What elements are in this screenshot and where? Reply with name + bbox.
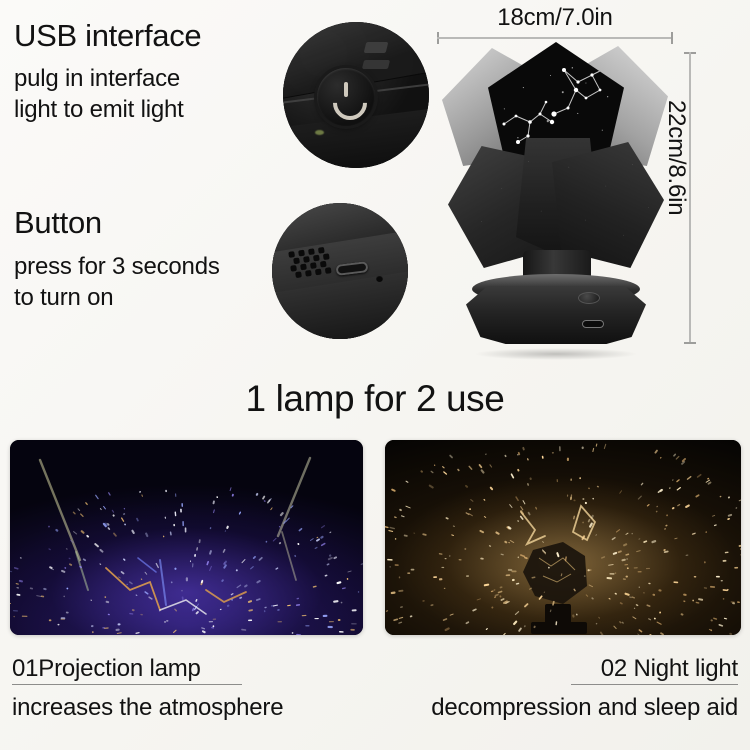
grille-hole — [310, 262, 317, 269]
product-photo — [430, 42, 680, 364]
projection-lamp-photo — [10, 440, 363, 635]
grille-hole — [298, 250, 305, 257]
power-button-closeup-photo — [283, 22, 429, 168]
grille-hole — [305, 270, 312, 277]
usb-interface-line-1: pulg in interface — [14, 64, 184, 95]
height-tick-bottom — [684, 342, 696, 344]
grille-hole — [318, 247, 325, 254]
grille-hole — [308, 248, 315, 255]
usb-port-closeup-photo — [272, 203, 408, 339]
width-line — [437, 37, 673, 39]
grille-hole — [293, 257, 300, 264]
usb-interface-title: USB interface — [14, 20, 201, 53]
grille-hole — [313, 255, 320, 262]
button-feature-description: press for 3 seconds to turn on — [14, 252, 220, 313]
product-shadow — [474, 348, 638, 360]
grille-hole — [295, 271, 302, 278]
reset-pinhole — [376, 275, 383, 282]
usb-interface-line-2: light to emit light — [14, 95, 184, 126]
button-feature-line-2: to turn on — [14, 283, 220, 314]
grille-hole — [303, 256, 310, 263]
grille-hole — [290, 265, 297, 272]
base-power-button — [578, 292, 600, 304]
projected-stars — [10, 440, 363, 635]
night-light-photo — [385, 440, 741, 635]
mode-02-underline — [571, 684, 738, 685]
grille-hole — [320, 261, 327, 268]
power-icon — [331, 82, 361, 112]
housing-notch — [363, 42, 388, 53]
speaker-grille-icon — [288, 246, 332, 279]
grille-hole — [315, 269, 322, 276]
product-base — [466, 274, 646, 356]
grille-hole — [323, 253, 330, 260]
grille-hole — [325, 267, 332, 274]
star-dots — [10, 487, 363, 635]
base-octagon-body — [466, 286, 646, 344]
mode-02-title: 02 Night light — [601, 655, 738, 683]
grille-hole — [288, 251, 295, 258]
housing-notch-secondary — [362, 60, 390, 69]
power-icon-stem — [344, 82, 348, 97]
grille-hole — [300, 264, 307, 271]
mode-01-subtitle: increases the atmosphere — [12, 694, 283, 722]
button-feature-line-1: press for 3 seconds — [14, 252, 220, 283]
mode-02-subtitle: decompression and sleep aid — [431, 694, 738, 722]
mode-01-title: 01Projection lamp — [12, 655, 201, 683]
width-dimension-label: 18cm/7.0in — [437, 4, 673, 32]
headline: 1 lamp for 2 use — [0, 378, 750, 420]
base-usb-port — [582, 320, 604, 328]
dodecahedron-body — [442, 42, 668, 267]
infographic-page: USB interface pulg in interface light to… — [0, 0, 750, 750]
mode-01-underline — [12, 684, 242, 685]
power-button-ring — [317, 68, 375, 126]
usb-interface-description: pulg in interface light to emit light — [14, 64, 184, 125]
projected-stars-warm — [385, 440, 741, 635]
button-feature-title: Button — [14, 207, 102, 240]
